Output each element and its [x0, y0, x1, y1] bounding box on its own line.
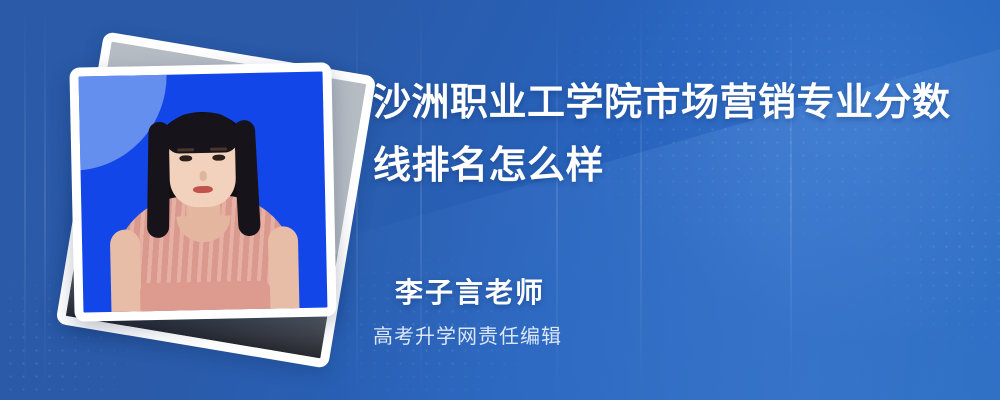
page-title: 沙洲职业工学院市场营销专业分数线排名怎么样 [373, 72, 963, 198]
portrait-arm-right [268, 226, 300, 315]
author-name: 李子言老师 [395, 271, 545, 311]
photo-card-stack [40, 30, 370, 370]
portrait-nose [200, 171, 207, 181]
portrait-waist [140, 281, 271, 318]
portrait-photo-icon [79, 71, 328, 312]
portrait-lips [193, 186, 213, 193]
portrait-hair-top [165, 112, 238, 153]
photo-card-front [69, 62, 336, 321]
author-role: 高考升学网责任编辑 [373, 320, 562, 349]
promo-banner: 沙洲职业工学院市场营销专业分数线排名怎么样 李子言老师 高考升学网责任编辑 [0, 0, 1000, 400]
light-streak [24, 0, 26, 400]
banner-text-column: 沙洲职业工学院市场营销专业分数线排名怎么样 李子言老师 高考升学网责任编辑 [373, 0, 973, 400]
portrait-arm-left [110, 229, 142, 318]
